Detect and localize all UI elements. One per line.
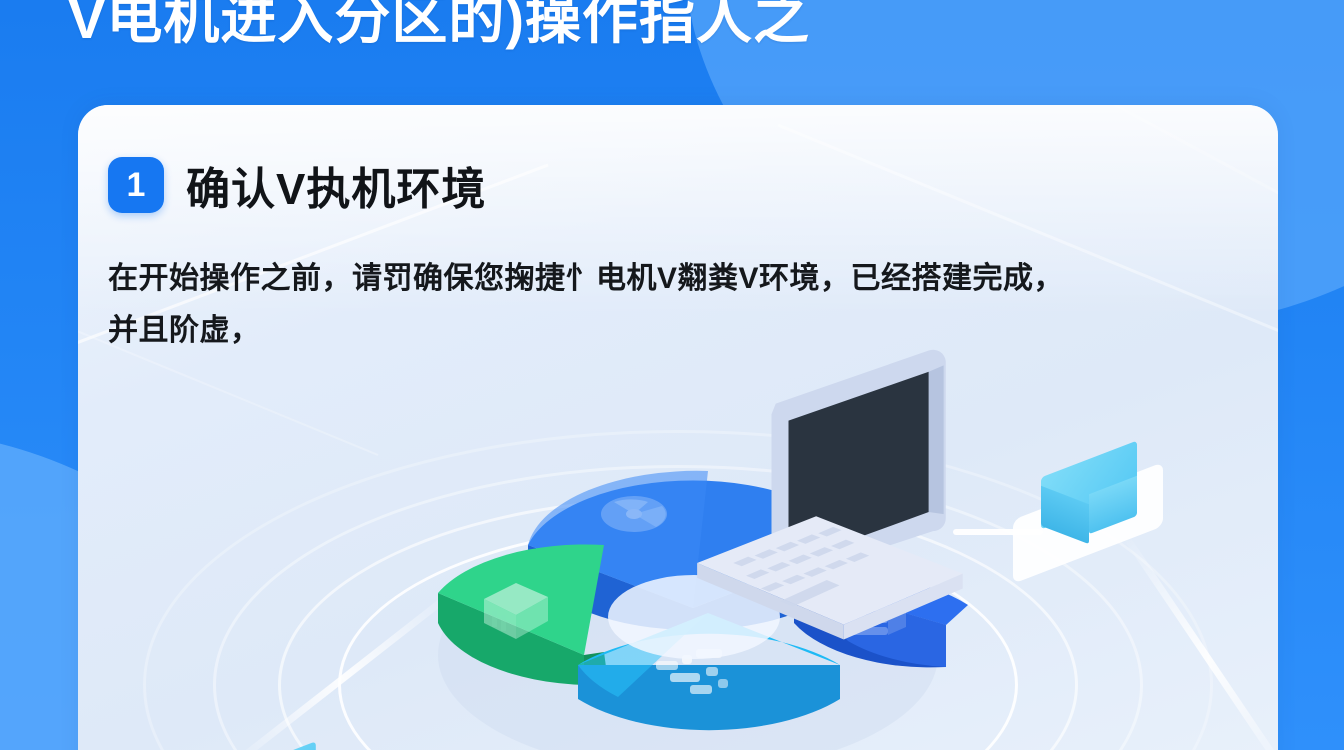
step-number-badge: 1 <box>108 157 164 213</box>
step-heading: 确认V执机环境 <box>186 153 486 217</box>
step-header: 1 确认V执机环境 <box>108 153 486 217</box>
page-title: V电机进入分区的)操作指人之 <box>68 0 1278 55</box>
pie-chart-icon <box>601 496 667 532</box>
content-card: 1 确认V执机环境 在开始操作之前，请罚确保您掬捷忄电机V翷粪V环境，已经搭建完… <box>78 105 1278 750</box>
poster-page: V电机进入分区的)操作指人之 1 确认V执机环境 在开始操作之前，请罚确保您掬捷… <box>0 0 1344 750</box>
description-line-1: 在开始操作之前，请罚确保您掬捷忄电机V翷粪V环境，已经搭建完成， <box>108 253 1228 305</box>
laptop-icon <box>678 335 1018 655</box>
description-line-2: 并且阶虚， <box>108 305 1228 357</box>
step-description: 在开始操作之前，请罚确保您掬捷忄电机V翷粪V环境，已经搭建完成， 并且阶虚， <box>108 253 1228 356</box>
